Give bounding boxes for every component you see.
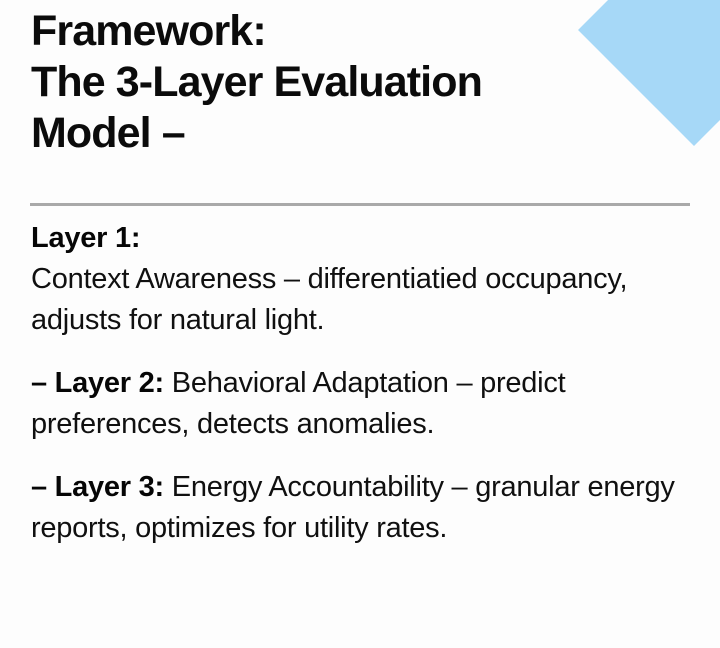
slide-canvas: Framework: The 3-Layer Evaluation Model … xyxy=(0,0,720,648)
list-item: – Layer 2: Behavioral Adaptation – predi… xyxy=(31,363,691,445)
title-divider xyxy=(30,203,690,206)
list-item: – Layer 3: Energy Accountability – granu… xyxy=(31,467,691,549)
layer-1-description: Context Awareness – differentiatied occu… xyxy=(31,263,627,336)
page-title-line-1: Framework: xyxy=(31,6,631,57)
page-title: Framework: The 3-Layer Evaluation Model … xyxy=(31,6,631,159)
layers-list: Layer 1:Context Awareness – differentiat… xyxy=(31,218,691,549)
layer-1-lead: Layer 1: xyxy=(31,218,691,259)
page-title-line-3: Model – xyxy=(31,108,631,159)
layer-3-lead: – Layer 3: xyxy=(31,471,164,503)
layer-2-lead: – Layer 2: xyxy=(31,367,164,399)
list-item: Layer 1:Context Awareness – differentiat… xyxy=(31,218,691,341)
page-title-line-2: The 3-Layer Evaluation xyxy=(31,57,631,108)
